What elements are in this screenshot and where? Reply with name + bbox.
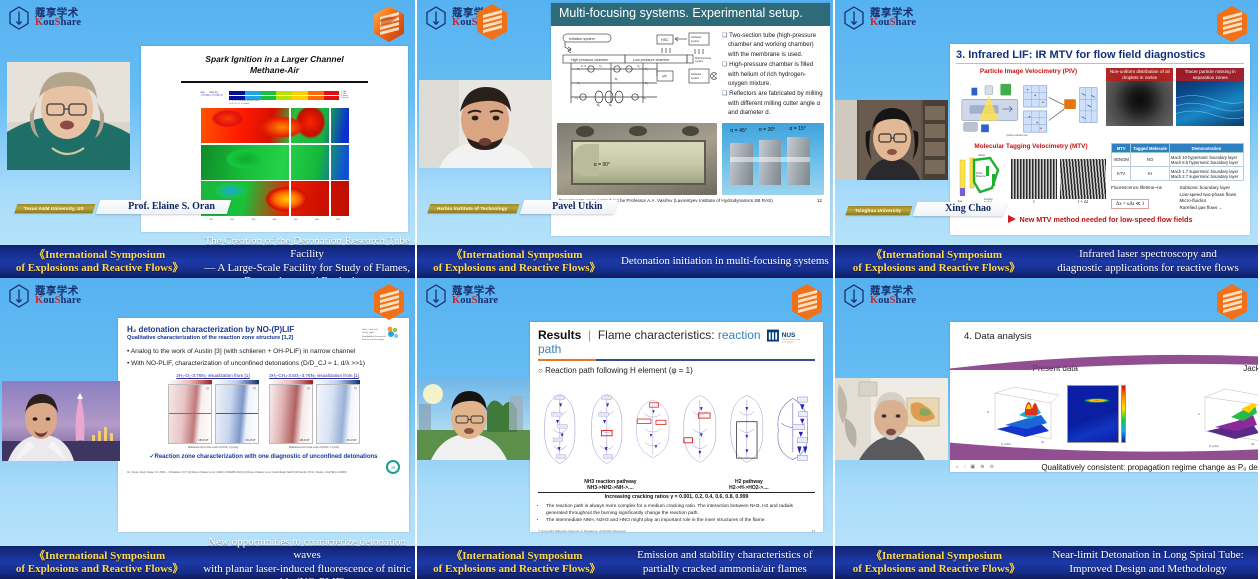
tick: 600 <box>315 218 319 223</box>
slide-copyright: © Copyright National University of Singa… <box>538 529 626 532</box>
reaction-graph-h2 <box>725 379 769 479</box>
slide-zhang[interactable]: Results | Flame characteristics: reactio… <box>530 322 823 532</box>
svg-text:Science and Technology: Science and Technology <box>362 339 384 341</box>
brand-en-label: KouShare <box>870 296 916 307</box>
figure-caption: 2H₂-O₂-3.76N₂ visualization from [1] <box>168 373 259 378</box>
speaker-video-mevel[interactable] <box>835 378 948 460</box>
svg-text:⊳⊲: ⊳⊲ <box>581 64 587 68</box>
mtv-heading: Molecular Tagging Velocimetry (MTV) <box>956 143 1106 150</box>
koushare-diamond-icon <box>8 284 30 308</box>
pane-label: NO-PLIF <box>246 439 256 442</box>
piv-diagram: probe.solval.com <box>956 77 1101 139</box>
symposium-line-2: of Explosions and Reactive Flows》 <box>0 262 199 275</box>
affiliation-line-1: Tsinghua University <box>855 207 901 213</box>
talk-title-line-2: Improved Design and Methodology <box>1038 563 1258 576</box>
application-item: Low-speed two-phase flows <box>1180 192 1245 199</box>
koushare-brand: 蔻享学术 KouShare <box>8 284 81 308</box>
panel-chao[interactable]: 蔻享学术 KouShare <box>835 0 1258 278</box>
image-oil-droplets: Non-uniform distribution of oil droplets… <box>1106 68 1174 126</box>
slide-subtitle-chatelain: Qualitative characterization of the reac… <box>127 335 294 341</box>
mtv-diagram: optical Probe Molecule flow Imaging Sens… <box>956 152 1008 204</box>
nameplate-chao: Tsinghua University Xing Chao <box>847 198 1005 216</box>
conclusion-text: New MTV method needed for low-speed flow… <box>1020 215 1193 224</box>
grid-cell-6: 蔻享学术 KouShare <box>835 278 1260 579</box>
image-label: Non-uniform distribution of oil droplets… <box>1106 68 1174 81</box>
symposium-title: 《International Symposium of Explosions a… <box>835 550 1038 576</box>
photo-reflectors-set: α = 45° α = 30° α = 15° <box>722 123 824 195</box>
experimental-setup-diagram: Initiation system High pressure chamber … <box>557 31 717 109</box>
reflector-angle-label: α = 45° <box>730 128 747 134</box>
panel-zhang[interactable]: 蔻享学术 KouShare <box>417 278 833 579</box>
koushare-hex-logo <box>1215 5 1249 43</box>
talk-title-line-2: — A Large-Scale Facility for Study of Fl… <box>199 262 415 279</box>
bullet-text: High-pressure chamber is filled with hel… <box>728 61 813 87</box>
footer-bar-mevel: 《International Symposium of Explosions a… <box>835 546 1258 579</box>
slide-page-number: 13 <box>812 529 815 532</box>
koushare-hex-logo <box>475 3 509 41</box>
mtv-time-label: t + Δt <box>1060 199 1106 204</box>
slide-chatelain[interactable]: H₂ detonation characterization by NO-(P)… <box>118 318 409 532</box>
affiliation-line-1: Texas A&M University, US <box>24 205 84 211</box>
slide-title-zhang: Results | Flame characteristics: reactio… <box>538 328 767 356</box>
talk-title-line-1: Near-limit Detonation in Long Spiral Tub… <box>1038 549 1258 562</box>
bullet-item: ❑ Reflectors are fabricated by milling w… <box>722 89 824 117</box>
pathway-right-2: H2->H->HO2->.... <box>729 485 769 491</box>
koushare-diamond-icon <box>425 284 447 308</box>
talk-title-line-1: Infrared laser spectroscopy and <box>1038 248 1258 261</box>
slide-bullets-utkin: ❑ Two-section tube (high-pressure chambe… <box>722 31 824 119</box>
plot-pair-jackson: V P₀ (kPa) d/λ <box>1197 379 1258 449</box>
koushare-brand: 蔻享学术 KouShare <box>843 284 916 308</box>
svg-text:system: system <box>691 39 699 43</box>
cell-demo: Mach 10 hypersonic boundary layer Mach 8… <box>1169 153 1243 167</box>
nameplate-oran: Texas A&M University, US Prof. Elaine S.… <box>16 196 229 214</box>
slide-title-oran: Spark Ignition in a Larger Channel Metha… <box>151 54 398 77</box>
x-axis-label: Distance from the end of FOV, x [mm] <box>168 445 259 449</box>
slide-references: Int. Symp. Expl. Reac. Fl. 2021 – Chatel… <box>127 470 347 474</box>
photo-angle-label: α = 90° <box>594 162 610 168</box>
koushare-diamond-icon <box>843 284 865 308</box>
legend-row-velocity: -4 -2 0 2.5 1 1.5 u (cm/s) <box>229 103 339 106</box>
lifetime-note: Fluorescence lifetime~ns <box>1111 185 1176 192</box>
reflector-angle-label: α = 15° <box>789 126 806 132</box>
brand-en-label: KouShare <box>35 18 81 29</box>
speaker-name-utkin: Pavel Utkin <box>519 200 618 214</box>
slide-title-mevel: 4. Data analysis <box>950 322 1258 342</box>
koushare-hex-logo <box>1215 283 1249 321</box>
heatmap-present <box>1067 385 1119 443</box>
bullet-item: ❑ High-pressure chamber is filled with h… <box>722 60 824 88</box>
svg-text:جامعة الملك عبدالله: جامعة الملك عبدالله <box>362 328 379 331</box>
cracking-ratio-line: Increasing cracking ratios γ = 0.001, 0.… <box>605 494 749 500</box>
title-underline <box>181 81 368 83</box>
application-item: Rarefied gas flows ... <box>1180 205 1245 212</box>
symposium-line-2: of Explosions and Reactive Flows》 <box>835 262 1038 275</box>
svg-text:Software: Software <box>691 72 702 76</box>
talk-title-chao: Infrared laser spectroscopy and diagnost… <box>1038 248 1258 274</box>
koushare-brand: 蔻享学术 KouShare <box>8 6 81 30</box>
slide-title-chao: 3. Infrared LIF: IR MTV for flow field d… <box>956 49 1244 64</box>
temperature-colorbar <box>229 91 339 95</box>
slide-conclusion-mevel: Qualitatively consistent: propagation re… <box>950 463 1258 472</box>
svg-text:King Abdullah University of: King Abdullah University of <box>362 335 386 338</box>
panel-chatelain[interactable]: 蔻享学术 KouShare <box>0 278 415 579</box>
plot-area: a) OH-PLIF <box>168 384 212 444</box>
tick: 500 <box>294 218 298 223</box>
column-header: Tagged Molecule <box>1131 144 1170 153</box>
bullet-text: Analog to the work of Austin [3] (with s… <box>131 348 355 355</box>
image-tracer-particles: Tracer particle missing in separation zo… <box>1176 68 1244 126</box>
svg-text:optical: optical <box>978 154 985 157</box>
cell-demo: Mach 1.7 supersonic boundary layer Mach … <box>1169 167 1243 181</box>
x-axis-ticks: 100 200 300 400 500 600 700 <box>201 218 349 223</box>
koushare-diamond-icon <box>8 6 30 30</box>
tick: 400 <box>273 218 277 223</box>
talk-title-line-1: Emission and stability characteristics o… <box>617 549 833 562</box>
koushare-brand: 蔻享学术 KouShare <box>843 6 916 30</box>
bullet-head-text: Reaction path following H element (φ = 1… <box>545 366 693 375</box>
pane-no-plif: b) NO-PLIF <box>215 380 259 444</box>
slide-bullet-head: ○ Reaction path following H element (φ =… <box>538 366 815 375</box>
speaker-name-text: Pavel Utkin <box>552 201 602 212</box>
reaction-path-graphs <box>538 379 815 479</box>
slide-title-utkin: Multi-focusing systems. Experimental set… <box>551 3 830 26</box>
slide-page-badge: 10 <box>386 460 400 474</box>
slide-title-line-1: Spark Ignition in a Larger Channel <box>151 54 398 65</box>
pathway-left-2: NH3->NH2->NH->.... <box>584 485 636 491</box>
pane-label: OH-PLIF <box>199 439 209 442</box>
title-rule <box>538 359 815 361</box>
title-mid: Flame characteristics: <box>598 328 715 342</box>
piv-heading: Particle Image Velocimetry (PIV) <box>956 68 1101 75</box>
grid-cell-4: 蔻享学术 KouShare <box>0 278 417 579</box>
plif-figure-group: 2H₂-O₂-3.76N₂ visualization from [1] a) … <box>127 373 400 449</box>
presentation-grid: 蔻享学术 KouShare <box>0 0 1260 579</box>
bullet-text: With NO-PLIF, characterization of unconf… <box>131 360 365 367</box>
svg-text:V₁: V₁ <box>599 64 602 68</box>
kaust-logo: جامعة الملك عبداللهللعلوم والتقنية King … <box>360 325 400 343</box>
plot-area: b) NO-PLIF <box>316 384 360 444</box>
talk-title-line-1: New opportunities to characterize detona… <box>199 536 415 562</box>
pane-label: NO-PLIF <box>347 439 357 442</box>
table-row: KTV Kr Mach 1.7 supersonic boundary laye… <box>1112 167 1244 181</box>
symposium-title: 《International Symposium of Explosions a… <box>0 550 199 576</box>
svg-text:للعلوم والتقنية: للعلوم والتقنية <box>362 331 374 334</box>
speaker-portrait-chao <box>835 100 948 180</box>
application-item: Subsonic boundary layer <box>1180 185 1245 192</box>
symposium-line-2: of Explosions and Reactive Flows》 <box>417 563 617 576</box>
symposium-line-1: 《International Symposium <box>835 550 1038 563</box>
symposium-line-1: 《International Symposium <box>0 550 199 563</box>
svg-text:Molecule: Molecule <box>976 175 986 178</box>
bullet-text: Two-section tube (high-pressure chamber … <box>728 32 816 58</box>
symposium-title: 《International Symposium of Explosions a… <box>0 249 199 275</box>
tick: 300 <box>252 218 256 223</box>
speaker-video-chatelain[interactable] <box>2 381 120 461</box>
title-main: Results <box>538 328 581 342</box>
pane-no-plif-2: b) NO-PLIF <box>316 380 360 444</box>
bullet-1: • Analog to the work of Austin [3] (with… <box>127 348 400 355</box>
speaker-portrait-oran <box>7 62 130 170</box>
pane-label: OH-PLIF <box>300 439 310 442</box>
symposium-line-1: 《International Symposium <box>417 249 617 262</box>
footer-bar-chatelain: 《International Symposium of Explosions a… <box>0 546 415 579</box>
reaction-graph <box>538 379 582 479</box>
speaker-name-oran: Prof. Elaine S. Oran <box>96 200 231 214</box>
affiliation-ribbon-oran: Texas A&M University, US <box>15 204 96 213</box>
svg-text:High pressure chamber: High pressure chamber <box>571 58 609 62</box>
surface-plot-jackson: V P₀ (kPa) d/λ <box>1197 379 1258 449</box>
svg-text:of Singapore: of Singapore <box>782 341 795 344</box>
slide-title-chatelain: H₂ detonation characterization by NO-(P)… <box>127 325 294 334</box>
footer-swoosh <box>950 440 1258 460</box>
svg-text:F₁: F₁ <box>577 67 580 71</box>
svg-text:P: P <box>987 410 989 414</box>
symposium-title: 《International Symposium of Explosions a… <box>835 249 1038 275</box>
symposium-line-1: 《International Symposium <box>417 550 617 563</box>
figure-caption: 3H₂-CH₄-3.5O₂-3.76N₂ visualization from … <box>269 373 360 378</box>
affiliation-ribbon-chao: Tsinghua University <box>846 206 913 215</box>
reaction-graph <box>585 379 629 479</box>
applications-list: Subsonic boundary layer Low-speed two-ph… <box>1180 185 1245 212</box>
column-header: MTV <box>1112 144 1131 153</box>
mtv-grid-t1 <box>1060 159 1106 199</box>
talk-title-mevel: Near-limit Detonation in Long Spiral Tub… <box>1038 549 1258 575</box>
speaker-video-oran[interactable] <box>7 62 130 170</box>
brand-en-label: KouShare <box>35 296 81 307</box>
header-swoosh <box>950 348 1258 370</box>
time-value: 1.17518E-01 <box>210 94 223 97</box>
koushare-hex-logo <box>372 283 406 321</box>
column-header: Demonstration <box>1169 144 1243 153</box>
grid-cell-2: 蔻享学术 KouShare <box>417 0 835 278</box>
figure-left: 2H₂-O₂-3.76N₂ visualization from [1] a) … <box>168 373 259 449</box>
equation-box: Δx = uΔt ≪ 1 <box>1111 199 1149 209</box>
surface-plot-present: P P₀ (kPa) d/λ <box>985 379 1063 449</box>
svg-text:National University: National University <box>782 338 801 341</box>
svg-text:Initiation system: Initiation system <box>569 37 595 41</box>
koushare-hex-logo <box>790 283 824 321</box>
svg-text:V: V <box>1198 412 1200 416</box>
cell-molecule: NO <box>1131 153 1170 167</box>
koushare-diamond-icon <box>843 6 865 30</box>
cell-molecule: Kr <box>1131 167 1170 181</box>
affiliation-line-1: Harbin Institute of Technology <box>437 205 508 211</box>
panel-oran[interactable]: 蔻享学术 KouShare <box>0 0 415 278</box>
pane-oh-plif: a) OH-PLIF <box>168 380 212 444</box>
footer-bar-utkin: 《International Symposium of Explosions a… <box>417 245 833 278</box>
bullet-2: • With NO-PLIF, characterization of unco… <box>127 360 400 367</box>
svg-text:probe.solval.com: probe.solval.com <box>1006 133 1028 137</box>
talk-title-zhang: Emission and stability characteristics o… <box>617 549 833 575</box>
flame-field-temperature <box>201 108 349 143</box>
mtv-time-label: t <box>1011 199 1057 204</box>
koushare-diamond-icon <box>425 6 447 30</box>
grid-cell-5: 蔻享学术 KouShare <box>417 278 835 579</box>
speaker-portrait-chatelain <box>2 381 120 461</box>
speaker-portrait-zhang <box>417 378 530 460</box>
speaker-name-text: Prof. Elaine S. Oran <box>128 201 215 212</box>
pane-oh-plif-2: a) OH-PLIF <box>269 380 313 444</box>
svg-text:HSC: HSC <box>661 38 669 42</box>
grid-cell-3: 蔻享学术 KouShare <box>835 0 1260 278</box>
svg-text:system: system <box>695 59 703 63</box>
nus-logo: NUS National University of Singapore <box>767 328 815 344</box>
figure-right: 3H₂-CH₄-3.5O₂-3.76N₂ visualization from … <box>269 373 360 449</box>
talk-title-line-2: with planar laser-induced fluorescence o… <box>199 563 415 579</box>
grid-cell-1: 蔻享学术 KouShare <box>0 0 417 278</box>
bullet-item: ❑ Two-section tube (high-pressure chambe… <box>722 31 824 59</box>
slide-checkline: ✓Reaction zone characterization with one… <box>127 453 400 460</box>
tick: 700 <box>336 218 340 223</box>
plot-area: a) OH-PLIF <box>269 384 313 444</box>
reaction-graph <box>678 379 722 479</box>
x-axis-label: Distance from the end of FOV, x [mm] <box>269 445 360 449</box>
symposium-line-2: of Explosions and Reactive Flows》 <box>835 563 1038 576</box>
nameplate-utkin: Harbin Institute of Technology Pavel Utk… <box>429 196 616 214</box>
plot-area: b) NO-PLIF <box>215 384 259 444</box>
svg-text:B₁: B₁ <box>615 77 618 81</box>
cell-mtv: KTV <box>1112 167 1131 181</box>
footer-bar-oran: 《International Symposium of Explosions a… <box>0 245 415 278</box>
slide-mevel[interactable]: 4. Data analysis 清華 Present data Jackson… <box>950 322 1258 472</box>
svg-text:Low pressure chamber: Low pressure chamber <box>633 58 670 62</box>
slide-player-controls[interactable]: ⌂ ∕ ▣ ⊕ ⊖ <box>956 464 996 470</box>
speaker-video-zhang[interactable] <box>417 378 530 460</box>
koushare-hex-logo <box>372 5 406 43</box>
speaker-video-utkin[interactable] <box>419 80 552 168</box>
cell-mtv: VENOM <box>1112 153 1131 167</box>
talk-title-line-2: diagnostic applications for reactive flo… <box>1038 262 1258 275</box>
svg-text:VP: VP <box>662 74 668 78</box>
svg-text:system: system <box>691 76 699 80</box>
tick: 100 <box>209 218 213 223</box>
speaker-portrait-utkin <box>419 80 552 168</box>
slide-bullets-zhang: The reaction path is always more complex… <box>538 503 815 525</box>
application-item: Micro-fluidics <box>1180 198 1245 205</box>
photo-reflector-channel: α = 90° <box>557 123 717 195</box>
bullet-item: The intermediate NNH, N2H3 and HNO might… <box>546 517 815 524</box>
brand-en-label: KouShare <box>870 18 916 29</box>
speaker-video-chao[interactable] <box>835 100 948 180</box>
table-row: VENOM NO Mach 10 hypersonic boundary lay… <box>1112 153 1244 167</box>
affiliation-ribbon-utkin: Harbin Institute of Technology <box>428 204 519 213</box>
talk-title-line-1: The Creation of the Detonation Research … <box>199 235 415 261</box>
mtv-table: MTV Tagged Molecule Demonstration VENOM … <box>1111 143 1244 181</box>
symposium-title: 《International Symposium of Explosions a… <box>417 550 617 576</box>
bullet-item: The reaction path is always more complex… <box>546 503 815 517</box>
talk-title-chatelain: New opportunities to characterize detona… <box>199 536 415 579</box>
reaction-graph-h2-detail <box>771 379 815 479</box>
symposium-line-1: 《International Symposium <box>835 249 1038 262</box>
symposium-title: 《International Symposium of Explosions a… <box>417 249 617 275</box>
slide-title-line-2: Methane-Air <box>151 65 398 76</box>
table-header-row: MTV Tagged Molecule Demonstration <box>1112 144 1244 153</box>
symposium-line-2: of Explosions and Reactive Flows》 <box>417 262 617 275</box>
plot-pair-present: P P₀ (kPa) d/λ <box>985 379 1126 449</box>
brand-en-label: KouShare <box>452 296 498 307</box>
reaction-graph <box>631 379 675 479</box>
symposium-line-1: 《International Symposium <box>0 249 199 262</box>
tick: 200 <box>230 218 234 223</box>
talk-title-line-1: Detonation initiation in multi-focusing … <box>617 255 833 268</box>
talk-title-line-2: partially cracked ammonia/air flames <box>617 563 833 576</box>
speaker-portrait-mevel <box>835 378 948 460</box>
reflector-angle-label: α = 30° <box>759 127 776 133</box>
flame-field-pressure <box>201 145 349 180</box>
svg-text:NUS: NUS <box>782 332 796 339</box>
talk-title-utkin: Detonation initiation in multi-focusing … <box>617 255 833 268</box>
symposium-line-2: of Explosions and Reactive Flows》 <box>0 563 199 576</box>
arrow-right-icon <box>1008 215 1016 223</box>
talk-title-oran: The Creation of the Detonation Research … <box>199 235 415 278</box>
panel-mevel[interactable]: 蔻享学术 KouShare <box>835 278 1258 579</box>
step-value: 1701260 <box>201 94 210 97</box>
panel-utkin[interactable]: 蔻享学术 KouShare <box>417 0 833 278</box>
footer-bar-chao: 《International Symposium of Explosions a… <box>835 245 1258 278</box>
speaker-name-text: Xing Chao <box>946 203 992 214</box>
mtv-grid-t0 <box>1011 159 1057 199</box>
speaker-name-chao: Xing Chao <box>913 202 1007 216</box>
bullet-text: Reflectors are fabricated by milling wit… <box>728 90 823 116</box>
koushare-brand: 蔻享学术 KouShare <box>425 284 498 308</box>
colorbar-present <box>1121 385 1126 443</box>
checkline-text: Reaction zone characterization with one … <box>155 454 378 460</box>
footer-bar-zhang: 《International Symposium of Explosions a… <box>417 546 833 579</box>
data-plots: P P₀ (kPa) d/λ <box>950 379 1258 449</box>
svg-text:Software: Software <box>691 35 702 39</box>
